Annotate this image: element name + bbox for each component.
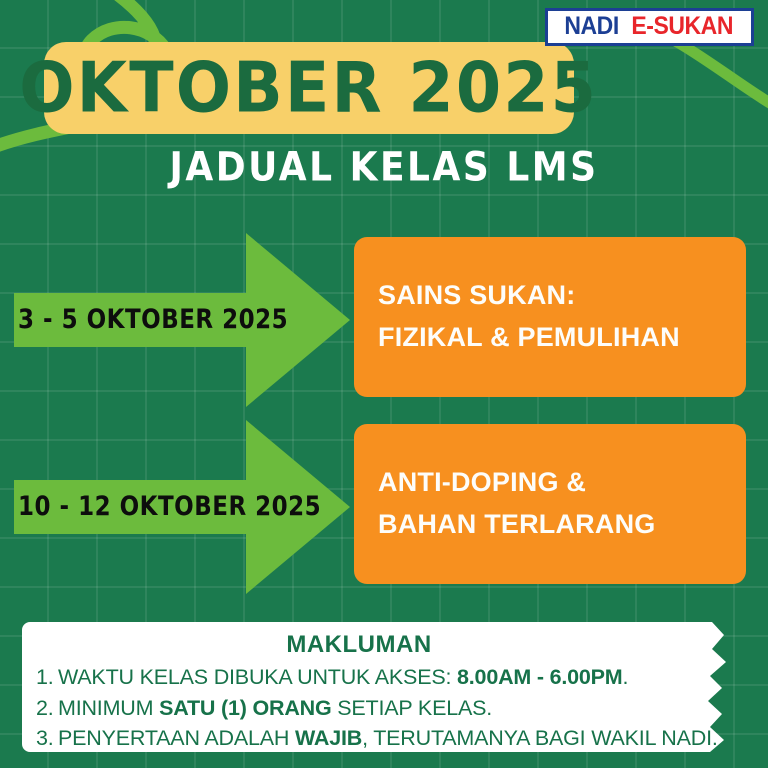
list-item-text-bold: WAJIB [295,726,362,750]
list-item-text-bold: 8.00AM - 6.00PM [457,665,622,689]
class-title-line-1: ANTI-DOPING & [378,462,722,504]
list-item-text-bold: SATU (1) ORANG [159,696,331,720]
class-card: SAINS SUKAN: FIZIKAL & PEMULIHAN [354,237,746,397]
title-banner: OKTOBER 2025 [44,42,574,134]
info-heading: MAKLUMAN [36,630,712,660]
list-item-number: 3. [36,723,58,754]
logo-text-nadi: NADI [565,14,619,39]
schedule-row: 3 - 5 OKTOBER 2025 SAINS SUKAN: FIZIKAL … [0,225,768,415]
class-title-line-2: FIZIKAL & PEMULIHAN [378,317,722,359]
info-panel-content: MAKLUMAN 1.WAKTU KELAS DIBUKA UNTUK AKSE… [22,622,712,752]
subtitle-container: JADUAL KELAS LMS [0,150,768,186]
list-item-text-pre: PENYERTAAN ADALAH [58,726,295,750]
page-subtitle: JADUAL KELAS LMS [169,148,598,188]
schedule-dates: 3 - 5 OKTOBER 2025 [18,307,288,333]
class-title-line-1: SAINS SUKAN: [378,275,722,317]
schedule-dates: 10 - 12 OKTOBER 2025 [18,494,321,520]
list-item-text-post: SETIAP KELAS. [332,696,493,720]
date-label-container: 10 - 12 OKTOBER 2025 [18,412,318,602]
list-item-text-pre: WAKTU KELAS DIBUKA UNTUK AKSES: [58,665,457,689]
list-item-text-post: . [623,665,629,689]
list-item-number: 1. [36,662,58,693]
logo-text-esukan: E-SUKAN [631,14,733,39]
list-item-text-post: , TERUTAMANYA BAGI WAKIL NADI. [362,726,718,750]
schedule-row: 10 - 12 OKTOBER 2025 ANTI-DOPING & BAHAN… [0,412,768,602]
page-title: OKTOBER 2025 [20,53,599,122]
list-item: 1.WAKTU KELAS DIBUKA UNTUK AKSES: 8.00AM… [36,662,712,693]
poster-canvas: NADIE-SUKAN OKTOBER 2025 JADUAL KELAS LM… [0,0,768,768]
info-list: 1.WAKTU KELAS DIBUKA UNTUK AKSES: 8.00AM… [36,662,712,754]
class-title-line-2: BAHAN TERLARANG [378,504,722,546]
nadi-esukan-logo: NADIE-SUKAN [545,8,754,46]
list-item: 3.PENYERTAAN ADALAH WAJIB, TERUTAMANYA B… [36,723,712,754]
date-label-container: 3 - 5 OKTOBER 2025 [18,225,318,415]
class-card: ANTI-DOPING & BAHAN TERLARANG [354,424,746,584]
list-item: 2.MINIMUM SATU (1) ORANG SETIAP KELAS. [36,693,712,724]
info-panel: MAKLUMAN 1.WAKTU KELAS DIBUKA UNTUK AKSE… [22,622,752,752]
list-item-number: 2. [36,693,58,724]
list-item-text-pre: MINIMUM [58,696,159,720]
